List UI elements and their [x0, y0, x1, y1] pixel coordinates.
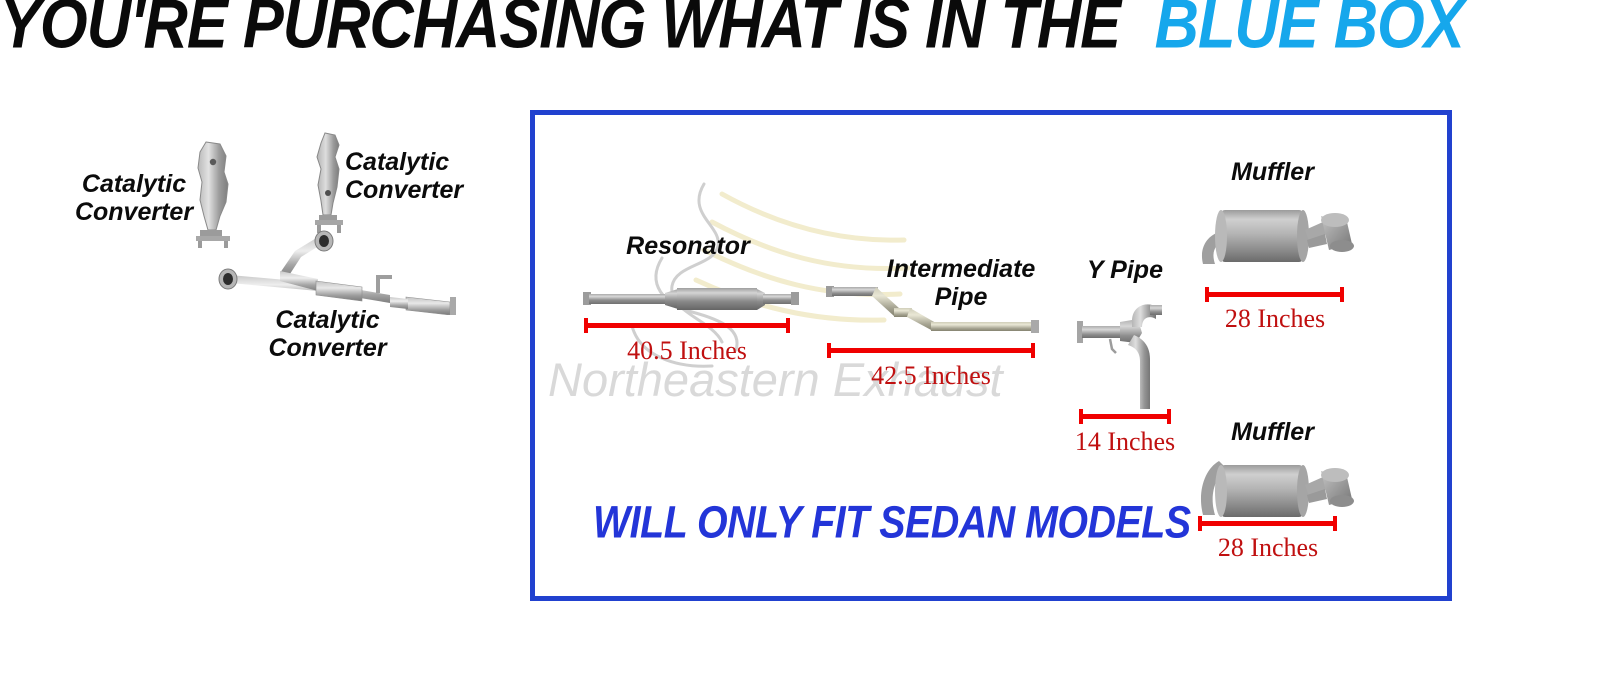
catalytic-converter-left-label: Catalytic Converter: [44, 170, 224, 226]
catalytic-converter-lower-label: Catalytic Converter: [235, 306, 420, 362]
resonator-label: Resonator: [578, 232, 798, 260]
y-pipe-graphic: [1072, 291, 1182, 421]
y-pipe-label: Y Pipe: [1055, 256, 1195, 284]
y-pipe-dimension-text: 14 Inches: [1060, 428, 1190, 456]
y-pipe-dimension-line: [1079, 409, 1171, 423]
catalytic-converter-lower-graphic: [200, 225, 470, 315]
intermediate-pipe-dimension-text: 42.5 Inches: [827, 362, 1035, 390]
muffler-upper-graphic: [1197, 192, 1362, 282]
intermediate-pipe-graphic: [826, 283, 1048, 338]
page-title-accent: BLUE BOX: [1155, 0, 1464, 60]
catalytic-converter-upper-label: Catalytic Converter: [345, 148, 535, 204]
muffler-upper-dimension-text: 28 Inches: [1195, 305, 1355, 333]
resonator-graphic: [583, 281, 799, 319]
page-title-main: YOU'RE PURCHASING WHAT IS IN THE: [0, 0, 1120, 60]
diagram-canvas: YOU'RE PURCHASING WHAT IS IN THE BLUE BO…: [0, 0, 1600, 685]
resonator-dimension-line: [584, 318, 790, 332]
fitment-note: WILL ONLY FIT SEDAN MODELS: [593, 498, 1191, 546]
muffler-lower-dimension-line: [1198, 516, 1337, 530]
muffler-upper-dimension-line: [1205, 287, 1344, 301]
resonator-dimension-text: 40.5 Inches: [584, 337, 790, 365]
muffler-upper-label: Muffler: [1200, 158, 1345, 186]
intermediate-pipe-dimension-line: [827, 343, 1035, 357]
page-title: YOU'RE PURCHASING WHAT IS IN THE BLUE BO…: [0, 0, 1600, 60]
muffler-lower-dimension-text: 28 Inches: [1188, 534, 1348, 562]
